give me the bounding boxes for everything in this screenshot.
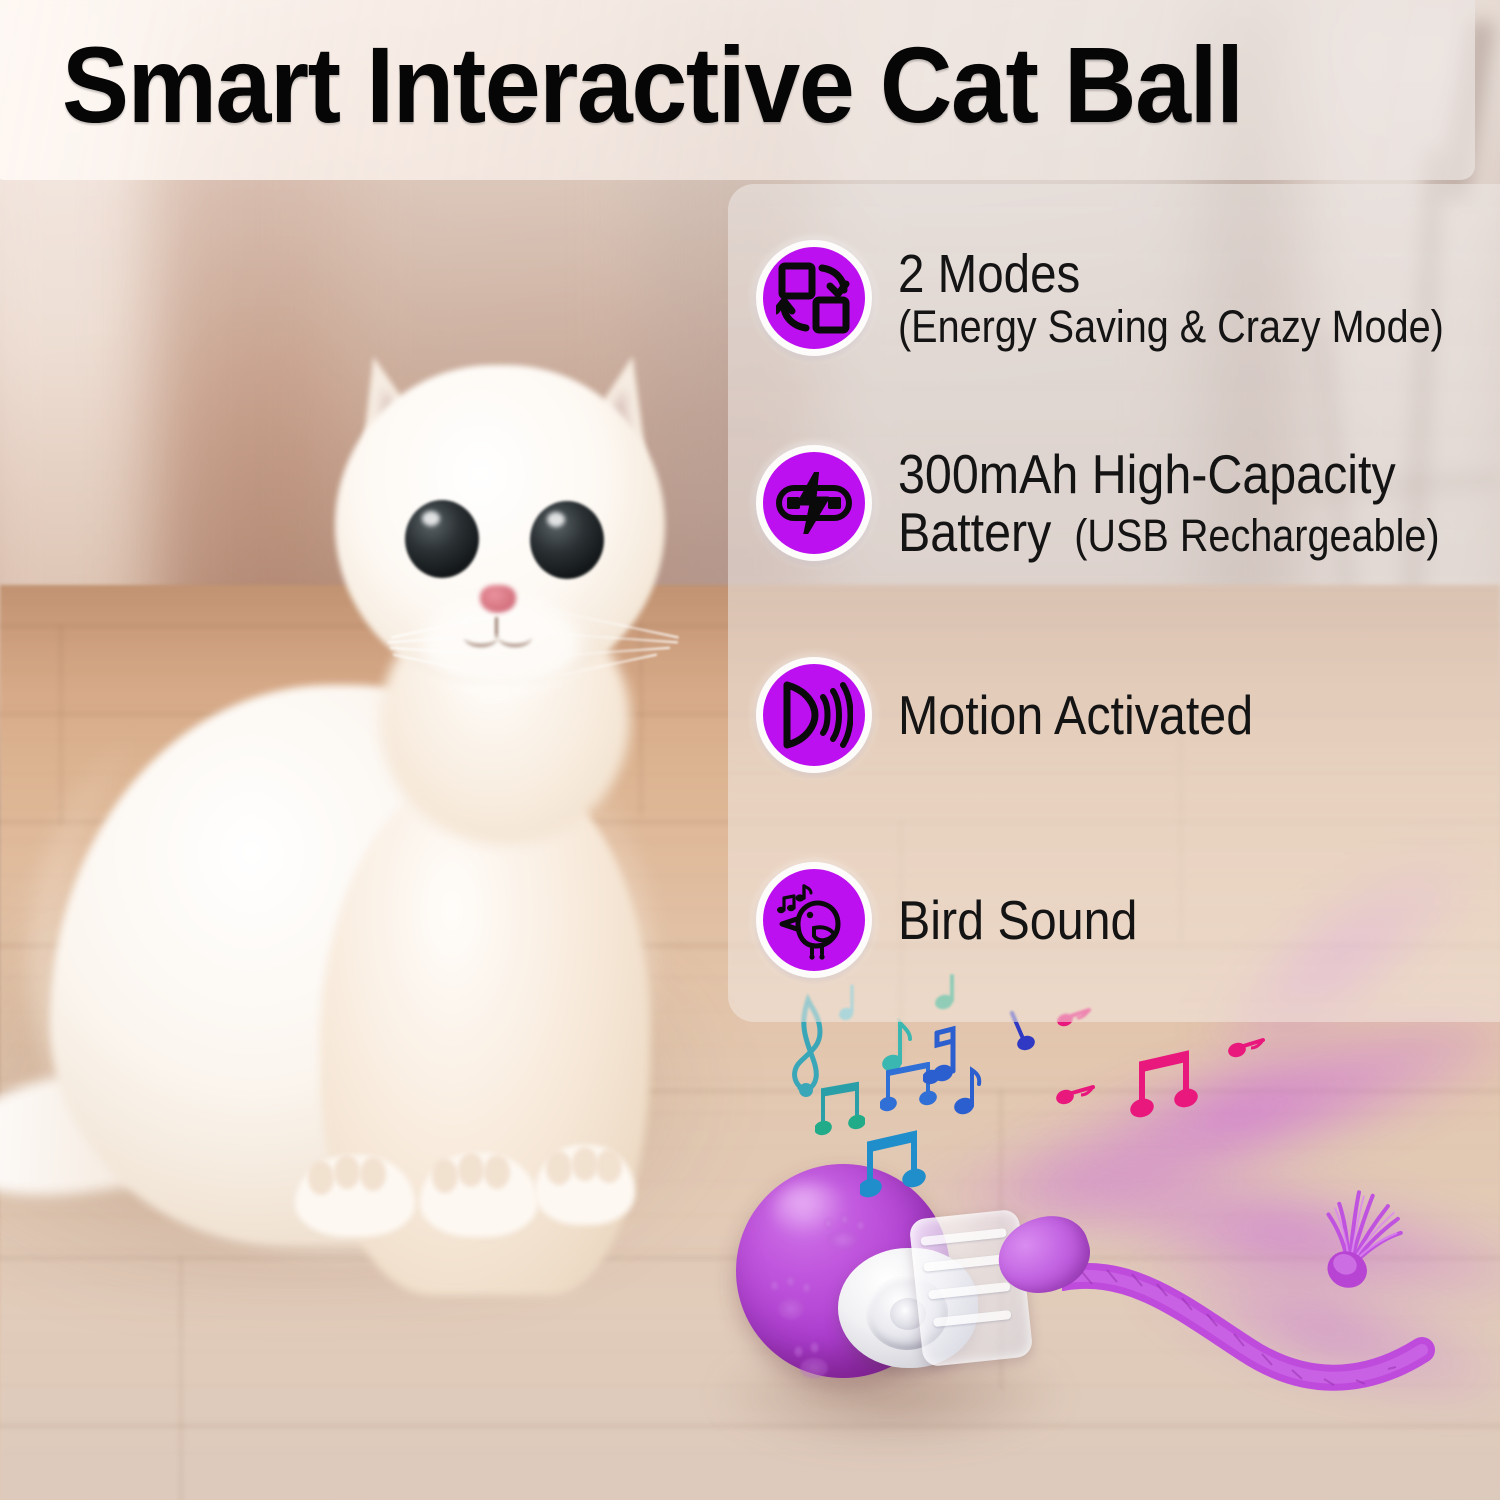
feature-subtitle: (Energy Saving & Crazy Mode) bbox=[898, 303, 1444, 351]
feature-item-two-modes[interactable]: 2 Modes (Energy Saving & Crazy Mode) bbox=[728, 200, 1500, 396]
cat-toe bbox=[546, 1151, 572, 1185]
cat-toe bbox=[596, 1149, 622, 1183]
feature-text-two-modes: 2 Modes (Energy Saving & Crazy Mode) bbox=[898, 246, 1500, 351]
ball-highlight bbox=[772, 1182, 848, 1238]
battery-bolt-icon bbox=[756, 445, 872, 561]
title-banner: Smart Interactive Cat Ball bbox=[0, 0, 1475, 180]
feature-item-bird-sound[interactable]: Bird Sound bbox=[728, 820, 1500, 1020]
cat-eye-left bbox=[405, 500, 479, 578]
page-title: Smart Interactive Cat Ball bbox=[62, 31, 1243, 139]
feature-item-motion[interactable]: Motion Activated bbox=[728, 610, 1500, 820]
paw-embossing bbox=[770, 1280, 779, 1291]
singing-bird-icon bbox=[756, 862, 872, 978]
paw-embossing bbox=[800, 1358, 828, 1378]
cat-toe bbox=[334, 1155, 360, 1189]
cover-rib bbox=[923, 1254, 1009, 1272]
feature-item-battery[interactable]: 300mAh High-Capacity Battery (USB Rechar… bbox=[728, 396, 1500, 610]
cat-toe bbox=[308, 1161, 334, 1195]
paw-embossing bbox=[824, 1218, 833, 1229]
feature-title-second-line: Battery (USB Rechargeable) bbox=[898, 503, 1444, 561]
feature-title: 300mAh High-Capacity bbox=[898, 445, 1444, 503]
cat-toe bbox=[432, 1159, 458, 1193]
cat-eye-highlight bbox=[422, 511, 440, 526]
motion-sensor-wave-icon bbox=[756, 657, 872, 773]
cover-rib bbox=[920, 1228, 1006, 1246]
floor-plank-seam bbox=[180, 1257, 182, 1500]
two-modes-rotate-icon bbox=[756, 240, 872, 356]
cat-toe bbox=[458, 1153, 484, 1187]
rope-tail bbox=[1062, 1238, 1492, 1408]
cover-rib bbox=[933, 1310, 1012, 1327]
cat-nose bbox=[480, 585, 516, 613]
feature-title: 2 Modes bbox=[898, 246, 1444, 303]
cat-toe bbox=[572, 1147, 598, 1181]
paw-embossing bbox=[810, 1342, 819, 1353]
cat-toe bbox=[360, 1157, 386, 1191]
cat-ball-toy bbox=[720, 1130, 1500, 1470]
feature-text-battery: 300mAh High-Capacity Battery (USB Rechar… bbox=[898, 445, 1500, 562]
paw-embossing bbox=[786, 1276, 795, 1287]
paw-embossing bbox=[794, 1346, 803, 1357]
cat-eye-highlight bbox=[547, 512, 565, 527]
cat-eye-right bbox=[530, 501, 604, 579]
paw-embossing bbox=[802, 1282, 811, 1293]
paw-embossing bbox=[778, 1298, 804, 1320]
cat-photo bbox=[0, 355, 780, 1255]
paw-embossing bbox=[840, 1214, 849, 1225]
feature-title: Motion Activated bbox=[898, 686, 1444, 744]
paw-embossing bbox=[856, 1220, 865, 1231]
cat-mouth-curve bbox=[498, 627, 532, 647]
cat-toe bbox=[484, 1155, 510, 1189]
feature-title: Bird Sound bbox=[898, 891, 1444, 949]
feature-list: 2 Modes (Energy Saving & Crazy Mode) 300… bbox=[728, 184, 1500, 1022]
paw-embossing bbox=[828, 1230, 858, 1250]
feature-subtitle: (USB Rechargeable) bbox=[1074, 512, 1439, 560]
cover-rib bbox=[928, 1282, 1010, 1300]
feature-text-bird-sound: Bird Sound bbox=[898, 891, 1500, 949]
feature-text-motion: Motion Activated bbox=[898, 686, 1500, 744]
product-infographic: 2 Modes (Energy Saving & Crazy Mode) 300… bbox=[0, 0, 1500, 1500]
feature-title-cont: Battery bbox=[898, 503, 1051, 561]
